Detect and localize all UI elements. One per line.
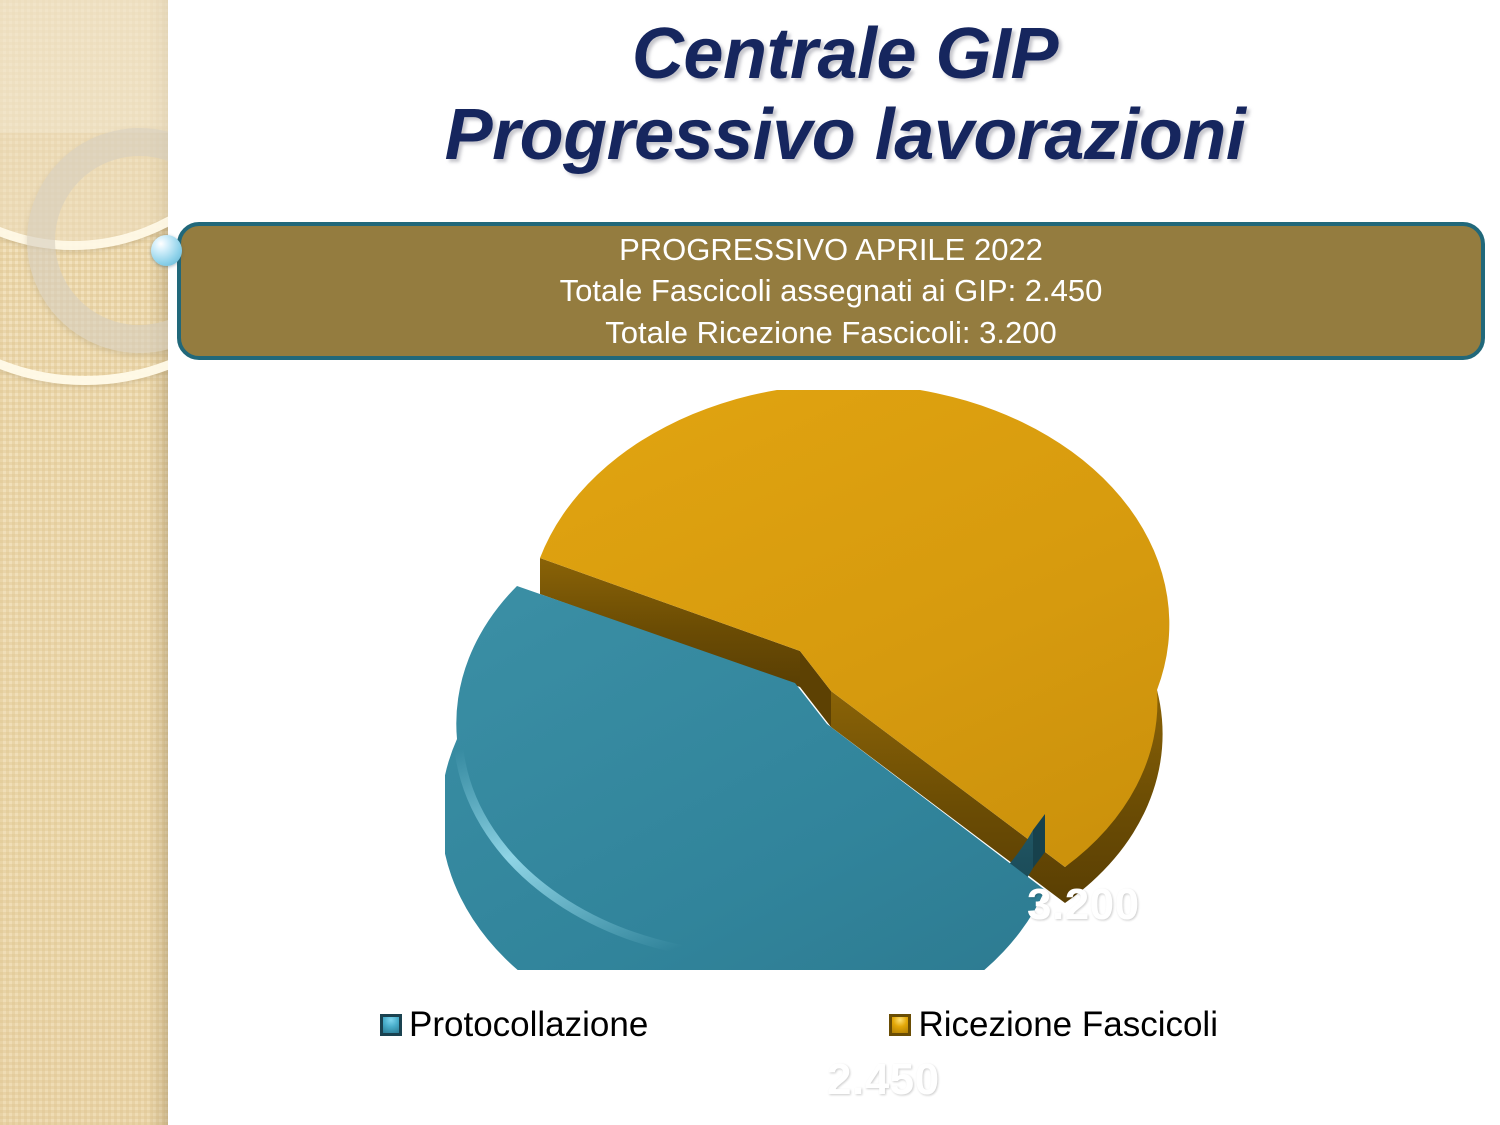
decorative-sidebar [0, 0, 168, 1125]
sidebar-bead-dot-icon [151, 235, 182, 266]
legend-item-ricezione-fascicoli[interactable]: Ricezione Fascicoli [889, 1007, 1218, 1042]
legend-label-ricezione-fascicoli: Ricezione Fascicoli [918, 1007, 1218, 1042]
pie-chart: 3.200 2.450 Protocollazione Ricezione Fa… [200, 380, 1480, 1100]
pie-data-label-protocollazione: 2.450 [827, 1055, 940, 1105]
legend-label-protocollazione: Protocollazione [409, 1007, 648, 1042]
pie-data-label-ricezione: 3.200 [1027, 880, 1140, 930]
summary-info-box: PROGRESSIVO APRILE 2022 Totale Fascicoli… [177, 222, 1485, 360]
pie-chart-graphic: 3.200 2.450 [445, 390, 1190, 970]
legend-item-protocollazione[interactable]: Protocollazione [380, 1007, 648, 1042]
page-title-line-2: Progressivo lavorazioni [200, 95, 1490, 176]
info-total-received-label: Totale Ricezione Fascicoli: 3.200 [605, 312, 1056, 354]
info-total-assigned-label: Totale Fascicoli assegnati ai GIP: 2.450 [560, 270, 1103, 312]
legend-swatch-teal-icon [380, 1014, 402, 1036]
page-title: Centrale GIP Progressivo lavorazioni [200, 14, 1490, 175]
info-period-label: PROGRESSIVO APRILE 2022 [619, 229, 1043, 271]
page-title-line-1: Centrale GIP [200, 14, 1490, 95]
chart-legend: Protocollazione Ricezione Fascicoli [380, 1007, 1260, 1042]
legend-swatch-gold-icon [889, 1014, 911, 1036]
sidebar-circle-outline-secondary-icon [0, 0, 168, 385]
